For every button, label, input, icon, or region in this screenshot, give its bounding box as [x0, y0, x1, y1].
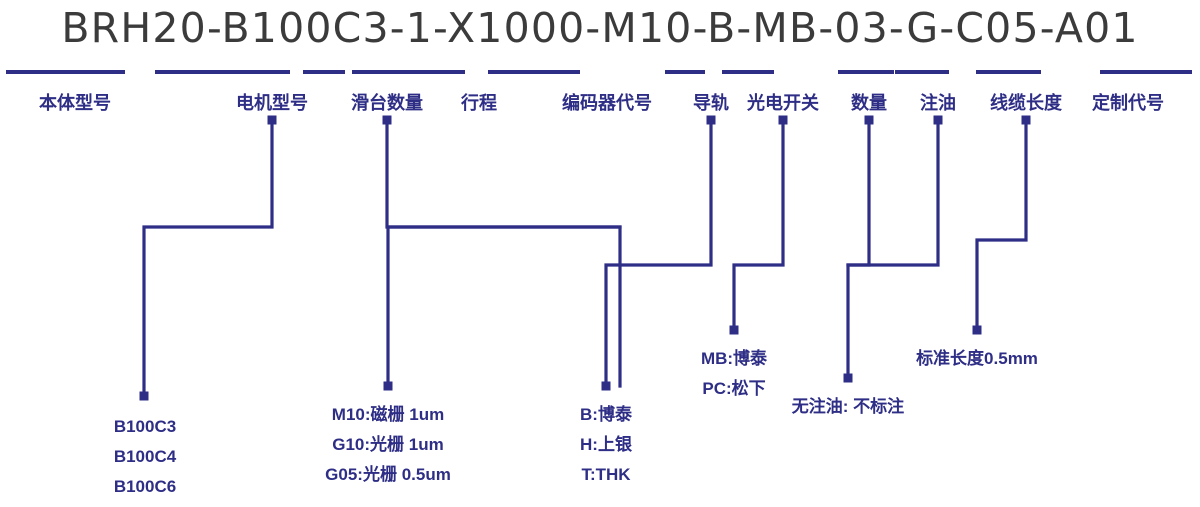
leader-cable-length	[977, 124, 1026, 330]
leader-oil	[848, 124, 938, 265]
option-item: 无注油: 不标注	[698, 392, 998, 422]
segment-underline-9	[895, 70, 949, 74]
segment-underline-3	[303, 70, 345, 74]
option-item: 标准长度0.5mm	[827, 344, 1127, 374]
segment-underline-2	[155, 70, 290, 74]
marker-top-motor-model	[383, 116, 392, 125]
segment-underline-7	[722, 70, 774, 74]
category-label-11: 定制代号	[1028, 89, 1200, 115]
segment-underline-1	[6, 70, 125, 74]
marker-top-cable-length	[1022, 116, 1031, 125]
marker-end-encoder	[384, 382, 393, 391]
category-label-1: 本体型号	[0, 89, 175, 115]
segment-underline-8	[838, 70, 894, 74]
leader-quantity	[848, 124, 869, 378]
segment-underline-4	[352, 70, 465, 74]
marker-top-quantity	[865, 116, 874, 125]
marker-top-body-model	[268, 116, 277, 125]
model-number-diagram: BRH20-B100C3-1-X1000-M10-B-MB-03-G-C05-A…	[0, 0, 1200, 507]
marker-top-oil	[934, 116, 943, 125]
segment-underline-11	[1100, 70, 1192, 74]
segment-underline-6	[665, 70, 705, 74]
option-item: H:上银	[456, 430, 756, 460]
leader-body-model	[144, 124, 272, 396]
segment-underline-10	[976, 70, 1041, 74]
segment-underline-5	[488, 70, 580, 74]
leader-photoswitch	[734, 124, 783, 330]
marker-top-photoswitch	[779, 116, 788, 125]
marker-end-cable-length	[973, 326, 982, 335]
marker-end-body-model	[140, 392, 149, 401]
option-list-6: 标准长度0.5mm	[827, 344, 1127, 374]
marker-top-rail	[707, 116, 716, 125]
option-list-5: 无注油: 不标注	[698, 392, 998, 422]
marker-end-photoswitch	[730, 326, 739, 335]
part-number-title: BRH20-B100C3-1-X1000-M10-B-MB-03-G-C05-A…	[0, 4, 1200, 52]
option-item: T:THK	[456, 460, 756, 490]
